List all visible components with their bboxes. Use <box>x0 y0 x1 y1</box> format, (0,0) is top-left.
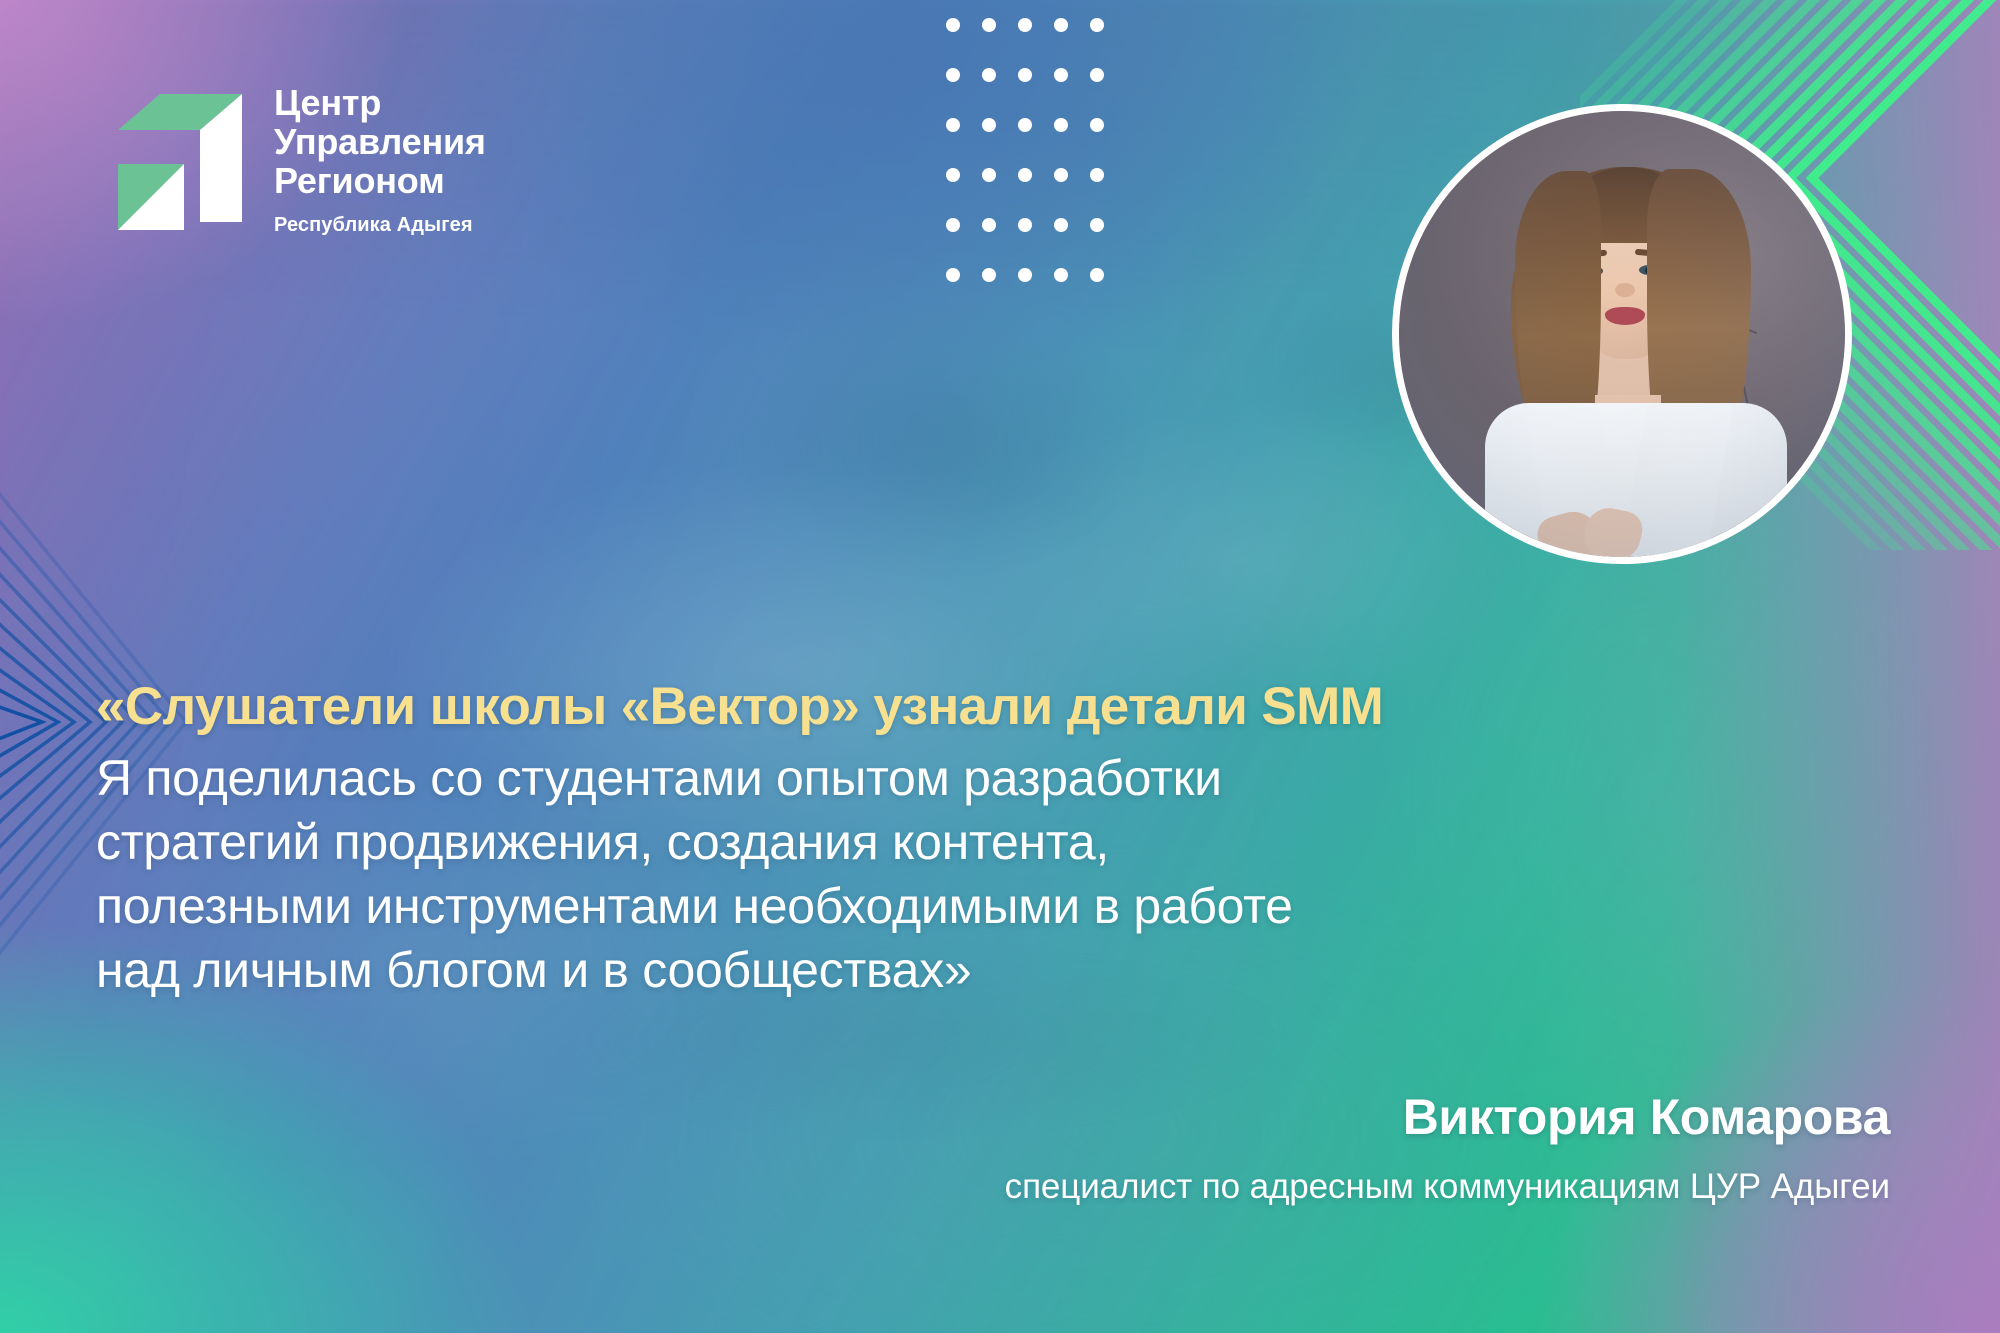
quote-headline: «Слушатели школы «Вектор» узнали детали … <box>96 676 1383 737</box>
speaker-portrait <box>1392 104 1852 564</box>
speaker-role: специалист по адресным коммуникациям ЦУР… <box>1005 1167 1890 1207</box>
quote-body-line: над личным блогом и в сообществах» <box>96 938 1886 1002</box>
grid-dot <box>1054 68 1068 82</box>
logo-line-1: Центр <box>274 84 486 123</box>
grid-dot <box>1054 268 1068 282</box>
grid-dot <box>982 118 996 132</box>
grid-dot <box>1018 268 1032 282</box>
grid-dot <box>1018 168 1032 182</box>
grid-dot <box>1054 168 1068 182</box>
grid-dot <box>1018 118 1032 132</box>
grid-dot <box>1054 118 1068 132</box>
grid-dot <box>1090 218 1104 232</box>
grid-dot <box>1090 168 1104 182</box>
grid-dot <box>946 18 960 32</box>
quote-body: Я поделилась со студентами опытом разраб… <box>96 746 1886 1002</box>
logo-line-2: Управления <box>274 123 486 162</box>
cube-logo-icon <box>112 82 248 232</box>
brand-logo: Центр Управления Регионом Республика Ады… <box>112 82 486 237</box>
grid-dot <box>1054 218 1068 232</box>
grid-dot <box>982 68 996 82</box>
grid-dot <box>1054 18 1068 32</box>
quote-body-line: стратегий продвижения, создания контента… <box>96 810 1886 874</box>
grid-dot <box>1090 18 1104 32</box>
grid-dot <box>946 168 960 182</box>
grid-dot <box>1018 68 1032 82</box>
grid-dot <box>1090 268 1104 282</box>
grid-dot <box>1090 118 1104 132</box>
portrait-tint <box>1399 111 1845 557</box>
portrait-image <box>1399 111 1845 557</box>
grid-dot <box>1018 18 1032 32</box>
grid-dot <box>982 268 996 282</box>
quote-body-line: Я поделилась со студентами опытом разраб… <box>96 746 1886 810</box>
grid-dot <box>946 68 960 82</box>
poster-canvas: Центр Управления Регионом Республика Ады… <box>0 0 2000 1333</box>
grid-dot <box>1018 218 1032 232</box>
quote-body-line: полезными инструментами необходимыми в р… <box>96 874 1886 938</box>
dot-grid-icon <box>946 18 1126 318</box>
grid-dot <box>946 218 960 232</box>
grid-dot <box>982 218 996 232</box>
logo-line-3: Регионом <box>274 162 486 201</box>
grid-dot <box>946 118 960 132</box>
grid-dot <box>982 168 996 182</box>
logo-region: Республика Адыгея <box>274 214 486 237</box>
grid-dot <box>1090 68 1104 82</box>
grid-dot <box>946 268 960 282</box>
speaker-name: Виктория Комарова <box>1403 1088 1890 1146</box>
grid-dot <box>982 18 996 32</box>
